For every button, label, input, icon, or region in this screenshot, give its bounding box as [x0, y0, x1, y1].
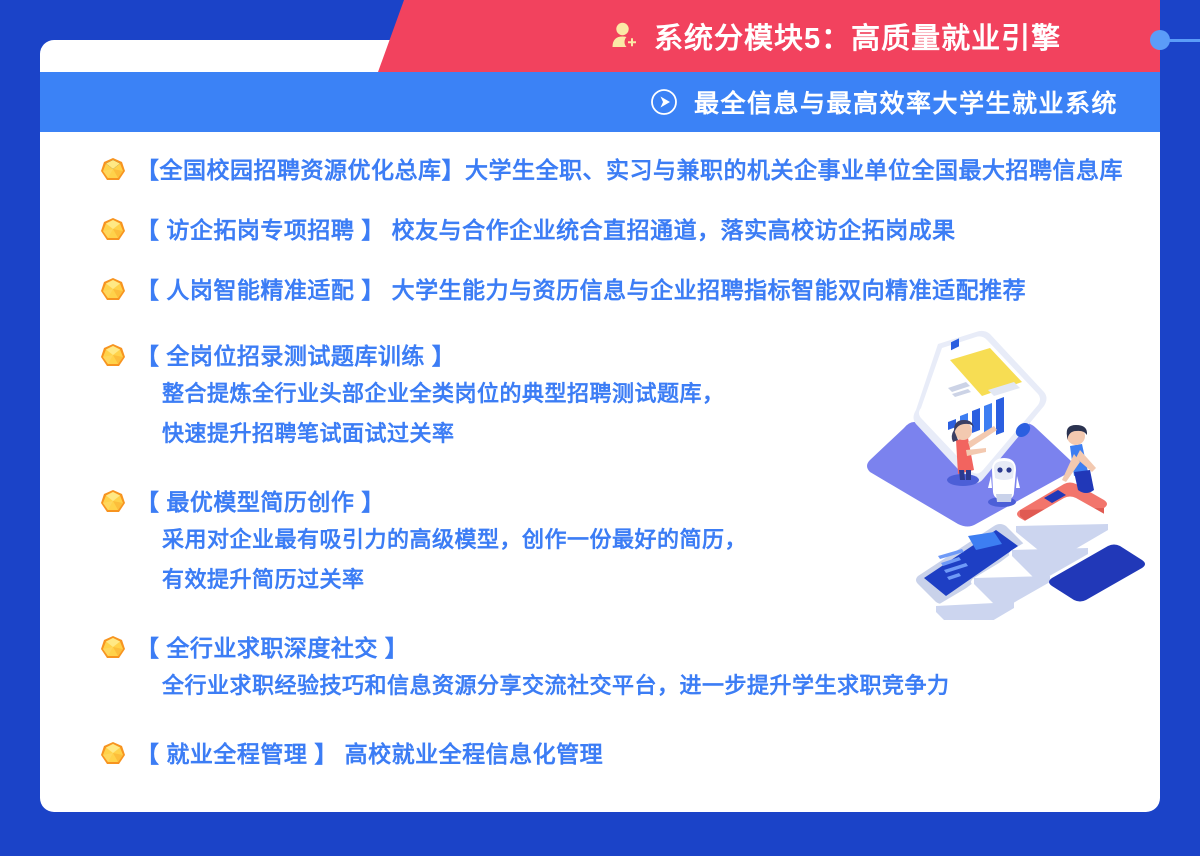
gem-icon — [100, 217, 126, 243]
list-item-title: 【 访企拓岗专项招聘 】 校友与合作企业统合直招通道，落实高校访企拓岗成果 — [136, 212, 956, 248]
gem-icon — [100, 343, 126, 369]
list-item-title: 【 最优模型简历创作 】 — [136, 484, 385, 520]
accent-line — [1168, 39, 1200, 42]
list-item-title: 【 全岗位招录测试题库训练 】 — [136, 338, 455, 374]
list-item-title: 【 就业全程管理 】 高校就业全程信息化管理 — [136, 736, 603, 772]
user-plus-icon — [610, 21, 640, 51]
list-item-title: 【 人岗智能精准适配 】 大学生能力与资历信息与企业招聘指标智能双向精准适配推荐 — [136, 272, 1026, 308]
subtitle-text: 最全信息与最高效率大学生就业系统 — [694, 84, 1118, 120]
gem-icon — [100, 741, 126, 767]
list-item-sub: 有效提升简历过关率 — [162, 560, 1170, 600]
list-item-title: 【全国校园招聘资源优化总库】大学生全职、实习与兼职的机关企事业单位全国最大招聘信… — [136, 152, 1123, 188]
list-item[interactable]: 【 人岗智能精准适配 】 大学生能力与资历信息与企业招聘指标智能双向精准适配推荐 — [100, 272, 1170, 308]
list-item[interactable]: 【 全岗位招录测试题库训练 】 整合提炼全行业头部企业全类岗位的典型招聘测试题库… — [100, 338, 1170, 454]
module-banner: 系统分模块5：高质量就业引擎 — [378, 0, 1160, 72]
list-item[interactable]: 【全国校园招聘资源优化总库】大学生全职、实习与兼职的机关企事业单位全国最大招聘信… — [100, 152, 1170, 188]
subtitle-bar: 最全信息与最高效率大学生就业系统 — [40, 72, 1160, 132]
list-item-sub: 快速提升招聘笔试面试过关率 — [162, 414, 1170, 454]
list-item[interactable]: 【 就业全程管理 】 高校就业全程信息化管理 — [100, 736, 1170, 772]
list-item-sub: 全行业求职经验技巧和信息资源分享交流社交平台，进一步提升学生求职竞争力 — [162, 666, 1170, 706]
list-item[interactable]: 【 访企拓岗专项招聘 】 校友与合作企业统合直招通道，落实高校访企拓岗成果 — [100, 212, 1170, 248]
gem-icon — [100, 635, 126, 661]
list-item-title: 【 全行业求职深度社交 】 — [136, 630, 408, 666]
gem-icon — [100, 157, 126, 183]
list-item[interactable]: 【 全行业求职深度社交 】 全行业求职经验技巧和信息资源分享交流社交平台，进一步… — [100, 630, 1170, 706]
accent-dot — [1150, 30, 1170, 50]
play-circle-icon — [650, 88, 678, 116]
page-root: 最全信息与最高效率大学生就业系统 系统分模块5：高质量就业引擎 — [0, 0, 1200, 856]
banner-title: 系统分模块5：高质量就业引擎 — [654, 15, 1061, 57]
list-item-sub: 整合提炼全行业头部企业全类岗位的典型招聘测试题库， — [162, 374, 1170, 414]
list-item[interactable]: 【 最优模型简历创作 】 采用对企业最有吸引力的高级模型，创作一份最好的简历， … — [100, 484, 1170, 600]
gem-icon — [100, 489, 126, 515]
list-item-sub: 采用对企业最有吸引力的高级模型，创作一份最好的简历， — [162, 520, 1170, 560]
gem-icon — [100, 277, 126, 303]
feature-list: 【全国校园招聘资源优化总库】大学生全职、实习与兼职的机关企事业单位全国最大招聘信… — [100, 152, 1170, 782]
